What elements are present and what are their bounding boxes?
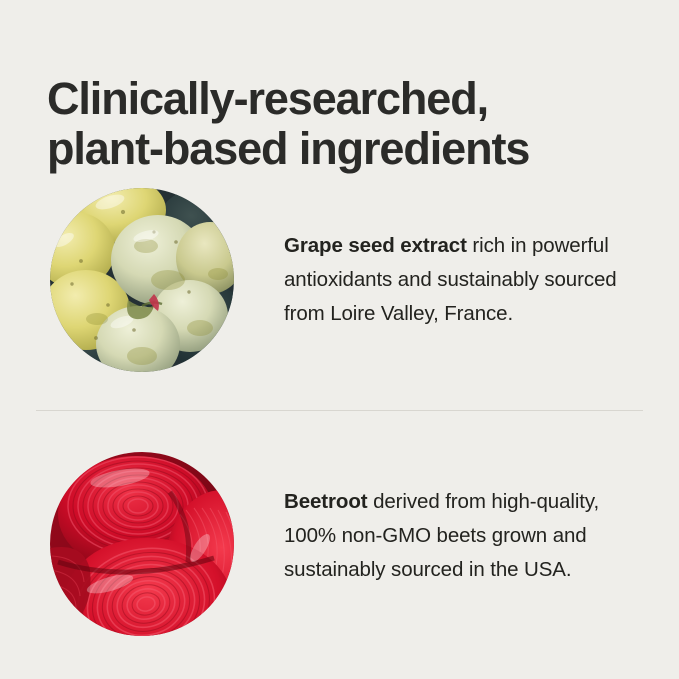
green-grapes-photo — [50, 188, 234, 372]
page-title-line-1: Clinically-researched, — [47, 74, 647, 124]
beetroot-image-circle — [50, 452, 234, 636]
page-title-line-2: plant-based ingredients — [47, 124, 647, 174]
ingredient-name-grape: Grape seed extract — [284, 234, 467, 257]
page-title: Clinically-researched, plant-based ingre… — [47, 74, 647, 174]
grape-image-circle — [50, 188, 234, 372]
ingredient-name-beetroot: Beetroot — [284, 490, 367, 513]
ingredients-infographic: Clinically-researched, plant-based ingre… — [0, 0, 679, 679]
section-divider — [36, 410, 643, 411]
sliced-beetroot-photo — [50, 452, 234, 636]
ingredient-description-grape: Grape seed extract rich in powerful anti… — [284, 229, 636, 331]
ingredient-description-beetroot: Beetroot derived from high-quality, 100%… — [284, 485, 636, 587]
